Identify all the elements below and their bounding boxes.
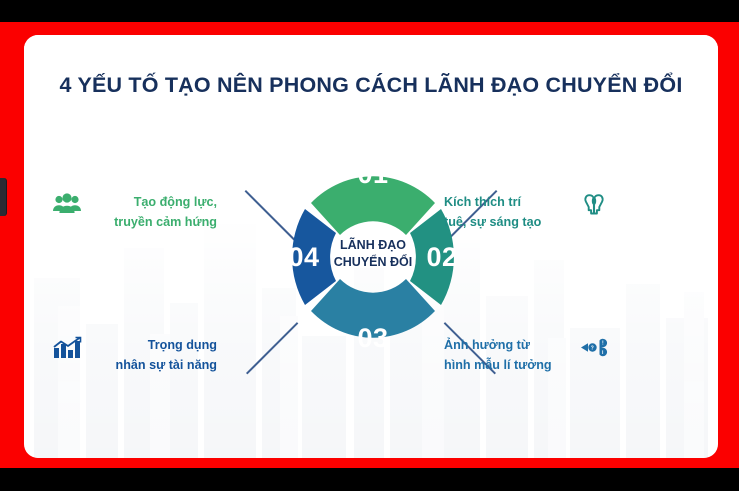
factor-label-2-line2: tuệ, sự sáng tạo xyxy=(444,213,570,233)
factor-label-3-line1: Ảnh hưởng từ xyxy=(444,336,570,356)
screenshot-viewport: 4 YẾU TỐ TẠO NÊN PHONG CÁCH LÃNH ĐẠO CHU… xyxy=(0,0,739,491)
factor-label-2-line1: Kích thích trí xyxy=(444,193,570,213)
factor-label-1-line1: Tạo động lực, xyxy=(91,193,217,213)
bar-chart-growth-icon xyxy=(52,335,82,361)
factor-label-4: Trọng dụng nhân sự tài năng xyxy=(52,335,217,376)
people-group-icon xyxy=(52,192,82,218)
factor-label-3: Ảnh hưởng từ hình mẫu lí tưởng ? ! xyxy=(444,335,609,376)
diagram-stage: 01 02 03 04 LÃNH ĐẠO CHUYỂN ĐỔI xyxy=(24,130,718,430)
slide-canvas: 4 YẾU TỐ TẠO NÊN PHONG CÁCH LÃNH ĐẠO CHU… xyxy=(24,35,718,458)
donut-center-label: LÃNH ĐẠO CHUYỂN ĐỔI xyxy=(315,237,431,271)
svg-text:?: ? xyxy=(591,345,594,351)
center-label-line2: CHUYỂN ĐỔI xyxy=(315,254,431,271)
factor-label-4-text: Trọng dụng nhân sự tài năng xyxy=(91,335,217,376)
factor-label-1-line2: truyền cảm hứng xyxy=(91,213,217,233)
donut-number-01: 01 xyxy=(263,159,483,190)
factor-label-3-line2: hình mẫu lí tưởng xyxy=(444,356,570,376)
factor-label-3-text: Ảnh hưởng từ hình mẫu lí tưởng xyxy=(444,335,570,376)
factor-label-1: Tạo động lực, truyền cảm hứng xyxy=(52,192,217,233)
page-title: 4 YẾU TỐ TẠO NÊN PHONG CÁCH LÃNH ĐẠO CHU… xyxy=(24,73,718,98)
factor-label-4-line2: nhân sự tài năng xyxy=(91,356,217,376)
factor-label-4-line1: Trọng dụng xyxy=(91,336,217,356)
factor-label-2: Kích thích trí tuệ, sự sáng tạo xyxy=(444,192,609,233)
network-nodes-icon: ? ! i xyxy=(579,335,609,361)
factor-label-2-text: Kích thích trí tuệ, sự sáng tạo xyxy=(444,192,570,233)
center-label-line1: LÃNH ĐẠO xyxy=(315,237,431,254)
factor-label-1-text: Tạo động lực, truyền cảm hứng xyxy=(91,192,217,233)
two-heads-icon xyxy=(579,192,609,218)
hidden-side-panel-edge[interactable] xyxy=(0,178,7,216)
